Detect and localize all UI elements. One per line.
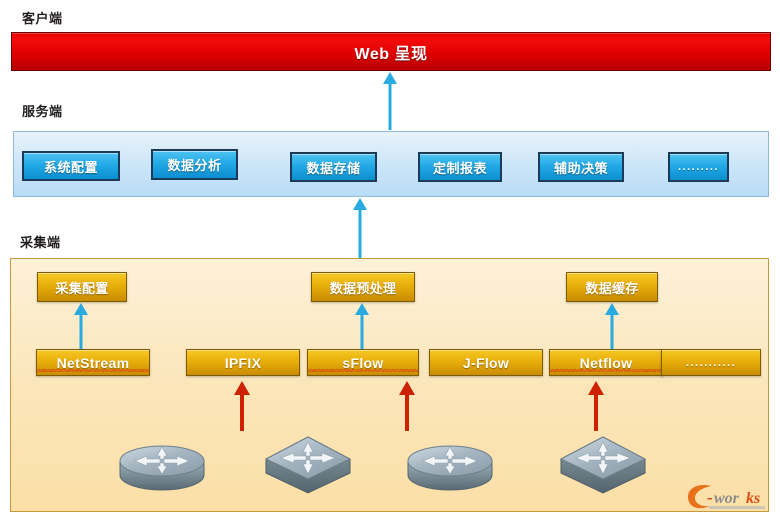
server-module-label: 定制报表 — [433, 158, 487, 177]
spellcheck-underline — [550, 369, 662, 372]
spellcheck-underline — [37, 369, 149, 372]
server-module-label: ......... — [678, 161, 719, 173]
svg-text:ks: ks — [746, 490, 760, 507]
device-flow-arrow-1 — [232, 381, 252, 431]
server-module-label: 数据分析 — [167, 155, 221, 174]
server-module-label: 辅助决策 — [554, 158, 608, 177]
web-presentation-label: Web 呈现 — [355, 40, 428, 64]
collector-protocol-label: ........... — [686, 357, 736, 369]
collector-layer-panel: 采集配置 数据预处理 数据缓存 — [10, 258, 769, 512]
flow-arrow-netstream-to-config — [72, 303, 90, 353]
server-module-more[interactable]: ......... — [668, 152, 729, 182]
device-flow-arrow-3 — [586, 381, 606, 431]
collector-protocol-sflow[interactable]: sFlow — [307, 349, 419, 376]
collector-protocol-ipfix[interactable]: IPFIX — [186, 349, 300, 376]
collector-function-data-preprocess[interactable]: 数据预处理 — [311, 272, 415, 302]
collector-protocol-netstream[interactable]: NetStream — [36, 349, 150, 376]
network-device-router-icon — [116, 431, 208, 493]
svg-text:wor: wor — [714, 490, 740, 507]
server-layer-panel: 系统配置 数据分析 数据存储 定制报表 辅助决策 ......... — [13, 131, 769, 197]
svg-text:-: - — [707, 488, 713, 507]
diagram-canvas: 客户端 Web 呈现 服务端 系统配置 数据分析 数据存储 定制报表 辅助决策 … — [0, 0, 780, 522]
collector-function-data-cache[interactable]: 数据缓存 — [566, 272, 658, 302]
eworks-watermark-logo: - wor ks — [683, 481, 769, 513]
network-device-switch-icon — [261, 429, 355, 495]
server-module-data-storage[interactable]: 数据存储 — [290, 152, 377, 182]
collector-protocol-netflow[interactable]: Netflow — [549, 349, 663, 376]
collector-function-label: 采集配置 — [55, 278, 108, 297]
server-module-custom-report[interactable]: 定制报表 — [418, 152, 502, 182]
server-module-label: 系统配置 — [44, 157, 98, 176]
flow-arrow-sflow-to-preprocess — [353, 303, 371, 353]
flow-arrow-collector-to-server — [351, 198, 369, 258]
collector-function-label: 数据预处理 — [330, 278, 397, 297]
device-flow-arrow-2 — [397, 381, 417, 431]
server-module-system-config[interactable]: 系统配置 — [22, 151, 120, 181]
layer-label-server: 服务端 — [22, 101, 63, 120]
collector-function-acquisition-config[interactable]: 采集配置 — [37, 272, 127, 302]
server-module-label: 数据存储 — [306, 158, 360, 177]
server-module-data-analysis[interactable]: 数据分析 — [151, 149, 238, 180]
web-presentation-bar[interactable]: Web 呈现 — [11, 32, 771, 71]
network-device-switch-icon — [556, 429, 650, 495]
collector-protocol-more[interactable]: ........... — [661, 349, 761, 376]
layer-label-collector: 采集端 — [20, 232, 61, 251]
flow-arrow-netflow-to-cache — [603, 303, 621, 353]
network-device-router-icon — [404, 431, 496, 493]
collector-protocol-jflow[interactable]: J-Flow — [429, 349, 543, 376]
flow-arrow-server-to-client — [381, 72, 399, 130]
collector-protocol-label: IPFIX — [225, 355, 262, 371]
layer-label-client: 客户端 — [22, 8, 63, 27]
collector-protocol-label: J-Flow — [463, 355, 509, 371]
spellcheck-underline — [308, 369, 418, 372]
collector-function-label: 数据缓存 — [585, 278, 638, 297]
server-module-decision-support[interactable]: 辅助决策 — [538, 152, 624, 182]
